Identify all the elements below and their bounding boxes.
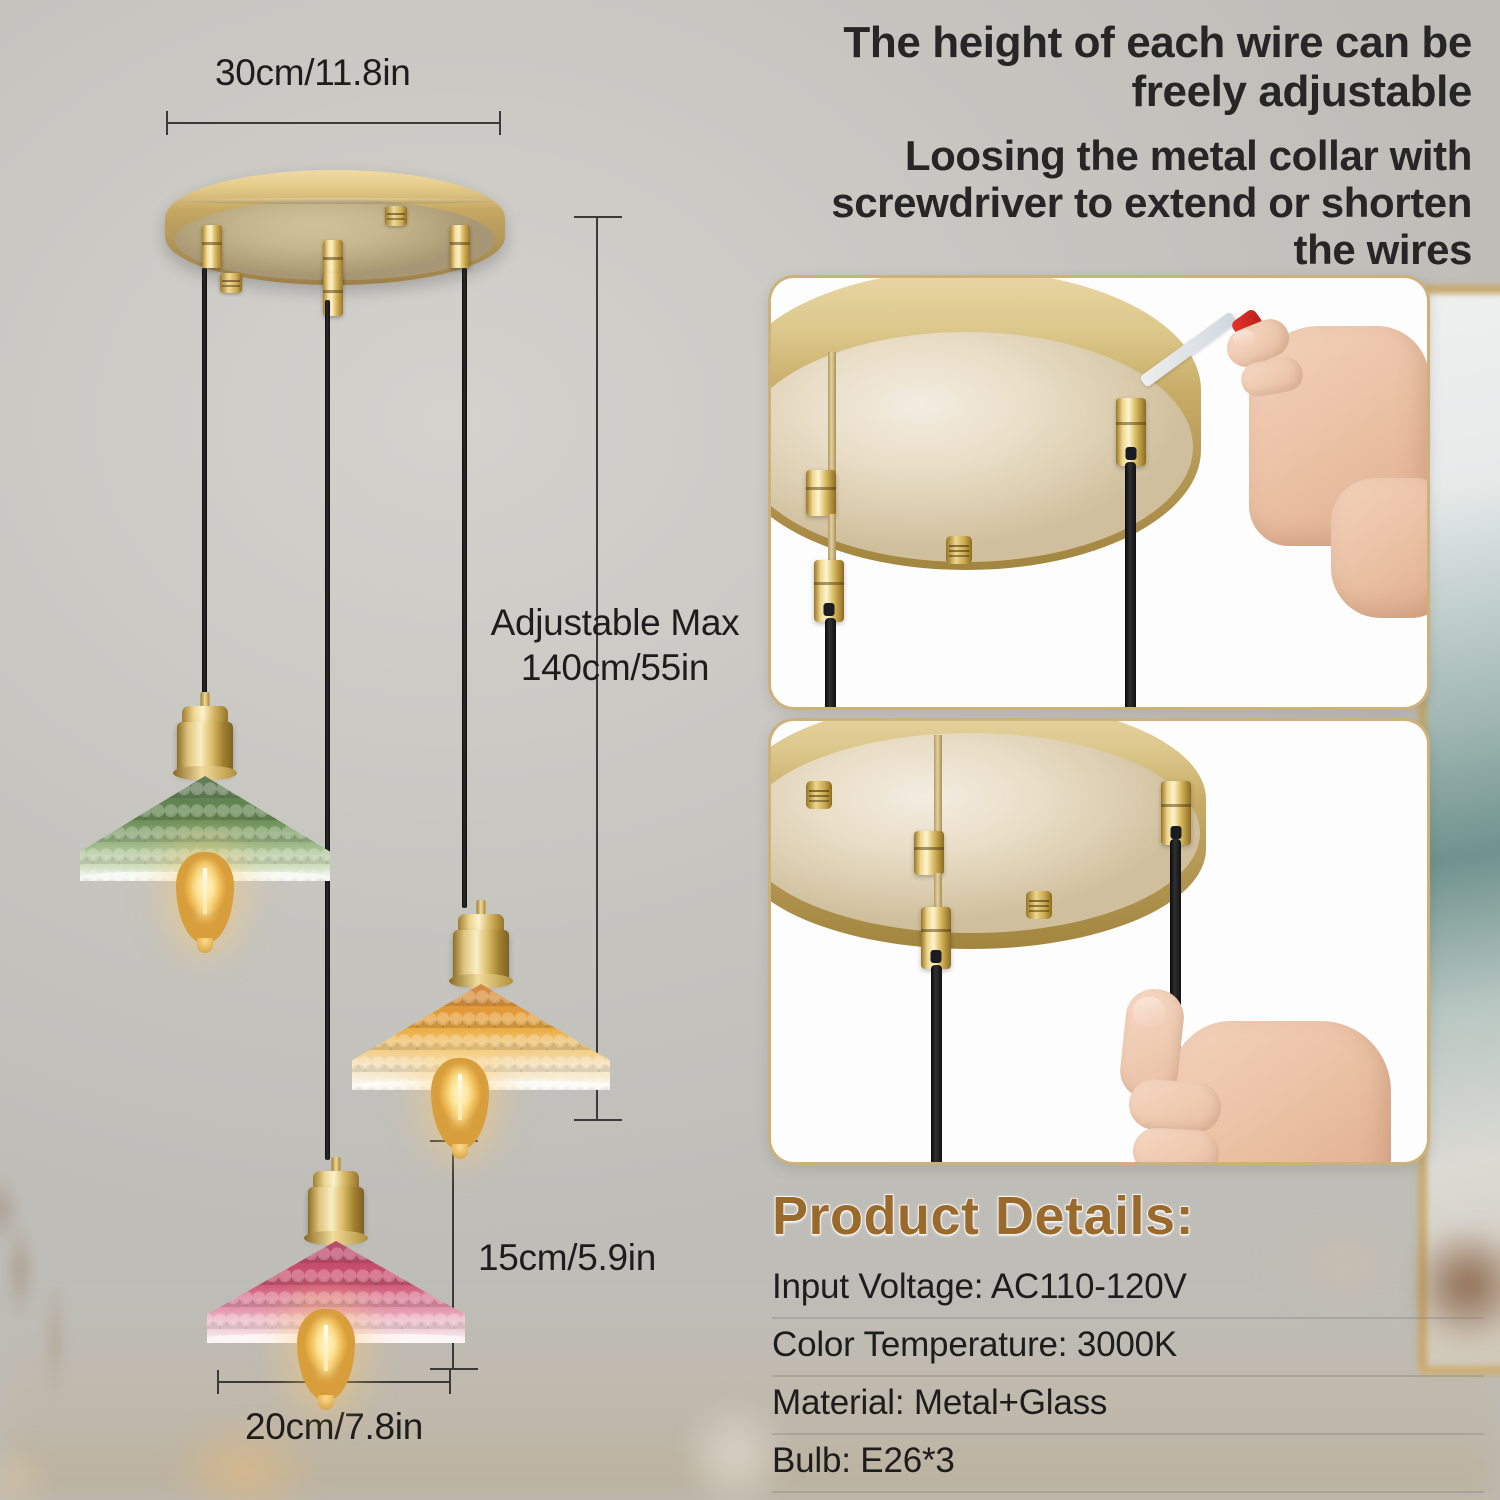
- product-details-title: Product Details:: [772, 1185, 1484, 1247]
- fingernail: [1233, 330, 1255, 346]
- detail-bulb: Bulb: E26*3: [772, 1435, 1484, 1493]
- ceiling-canopy: [165, 170, 505, 285]
- metal-collar-lower: [921, 907, 951, 969]
- product-details-section: Product Details: Input Voltage: AC110-12…: [772, 1185, 1484, 1493]
- shade-height-label: 15cm/5.9in: [478, 1235, 656, 1280]
- middle-finger: [1127, 1078, 1222, 1134]
- canopy-width-rule: [166, 122, 501, 124]
- canopy-rim-highlight: [175, 198, 495, 204]
- suspension-rod-lower: [828, 514, 836, 562]
- hand-palm: [1331, 478, 1430, 618]
- suspension-rod: [934, 735, 942, 835]
- collar-screw-hole: [931, 950, 942, 963]
- canopy-screw-left: [220, 273, 242, 293]
- photo-panel-pull-cord: [768, 718, 1430, 1165]
- canopy-photo-bottom: [768, 718, 1206, 949]
- bulb-filament: [324, 1325, 328, 1371]
- fingernail: [1133, 997, 1165, 1027]
- collar-screw-hole: [1171, 826, 1182, 839]
- cord-green: [202, 268, 207, 703]
- metal-collar-adjusting: [1116, 398, 1146, 466]
- canopy-screw-right: [385, 206, 407, 226]
- edison-bulb: [297, 1309, 355, 1401]
- detail-input-voltage: Input Voltage: AC110-120V: [772, 1261, 1484, 1319]
- headline-adjustable: The height of each wire can be freely ad…: [782, 18, 1472, 117]
- detail-color-temperature: Color Temperature: 3000K: [772, 1319, 1484, 1377]
- collar-screw-hole: [824, 603, 835, 616]
- cord-amber: [462, 268, 467, 908]
- detail-material: Material: Metal+Glass: [772, 1377, 1484, 1435]
- canopy-screw-left: [806, 781, 832, 809]
- ring-finger: [1132, 1127, 1220, 1165]
- collar-screw-hole: [1126, 447, 1137, 460]
- cord-pink: [325, 300, 330, 1160]
- metal-collar-lower: [814, 560, 844, 622]
- canopy-screw: [946, 536, 972, 564]
- canopy-width-label: 30cm/11.8in: [215, 50, 411, 95]
- suspension-rod: [828, 352, 836, 472]
- bulb-filament: [458, 1074, 462, 1120]
- adjustable-max-label: Adjustable Max 140cm/55in: [480, 600, 750, 690]
- black-cord-left: [931, 965, 942, 1165]
- right-column: The height of each wire can be freely ad…: [760, 0, 1500, 1500]
- photo-panel-screwdriver: [768, 275, 1430, 710]
- bulb-filament: [203, 868, 207, 914]
- shade-width-label: 20cm/7.8in: [245, 1404, 423, 1449]
- metal-collar-right: [1161, 781, 1191, 845]
- black-cord-center: [1125, 462, 1136, 710]
- cord-collar-left: [202, 225, 222, 268]
- metal-collar-upper: [806, 470, 836, 516]
- edison-bulb: [431, 1058, 489, 1150]
- edison-bulb: [176, 852, 234, 944]
- suspension-rod-lower: [934, 873, 942, 909]
- cord-collar-right: [450, 225, 470, 268]
- canopy-screw-mid: [1026, 891, 1052, 919]
- headline-instructions: Loosing the metal collar with screwdrive…: [782, 132, 1472, 273]
- metal-collar-upper: [914, 831, 944, 875]
- black-cord-left: [825, 618, 836, 710]
